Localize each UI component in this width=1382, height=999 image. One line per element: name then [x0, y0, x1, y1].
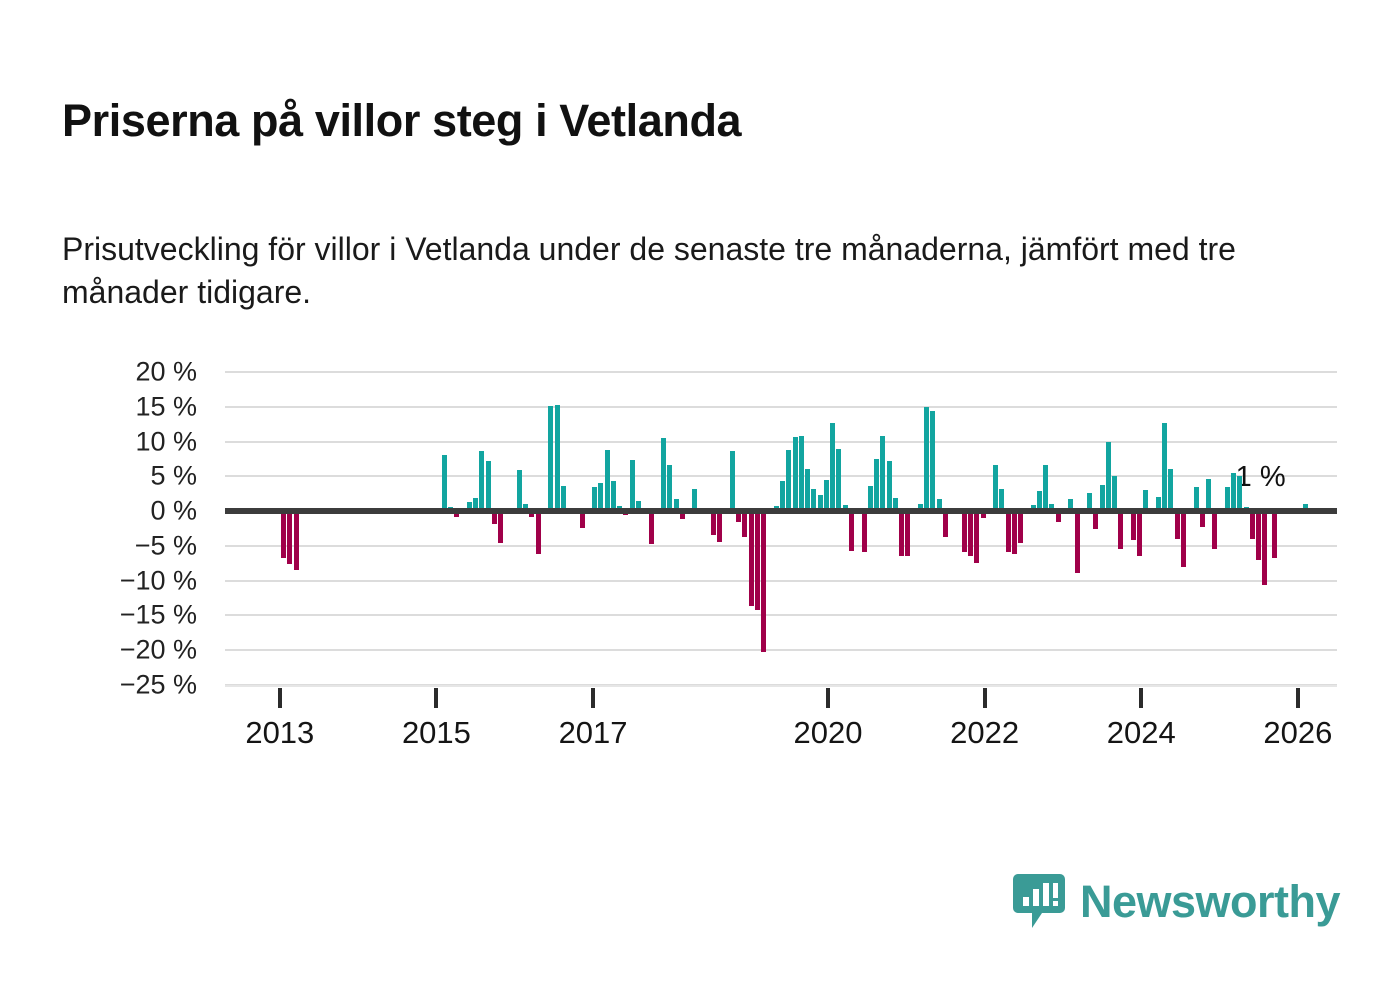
bar	[993, 465, 998, 512]
x-axis-tick-mark	[434, 688, 438, 708]
bar	[1206, 479, 1211, 511]
bar	[1131, 511, 1136, 540]
bar	[661, 438, 666, 511]
bar	[899, 511, 904, 556]
plot-area	[225, 372, 1337, 685]
bar	[1272, 511, 1277, 558]
y-axis-tick-label: −10 %	[47, 565, 197, 596]
bar	[498, 511, 503, 543]
bar	[836, 449, 841, 512]
x-axis-tick-label: 2015	[402, 715, 471, 751]
bar	[874, 459, 879, 511]
bar	[1256, 511, 1261, 560]
x-axis-tick-label: 2013	[245, 715, 314, 751]
bar-series	[225, 372, 1337, 685]
y-axis-tick-label: 0 %	[47, 496, 197, 527]
bar	[1012, 511, 1017, 554]
bar	[630, 460, 635, 511]
page-title: Priserna på villor steg i Vetlanda	[62, 96, 1302, 146]
bar	[1231, 473, 1236, 511]
bar	[611, 481, 616, 512]
bar	[730, 451, 735, 512]
y-axis-tick-label: 10 %	[47, 426, 197, 457]
y-axis-tick-label: 5 %	[47, 461, 197, 492]
bar	[536, 511, 541, 554]
bar	[1018, 511, 1023, 543]
x-axis-tick-label: 2026	[1263, 715, 1332, 751]
bar	[1250, 511, 1255, 539]
bar	[548, 406, 553, 511]
bar	[1212, 511, 1217, 549]
bar	[943, 511, 948, 537]
bar	[649, 511, 654, 544]
bar	[742, 511, 747, 537]
bar	[1075, 511, 1080, 573]
bar	[1162, 423, 1167, 511]
bar	[1175, 511, 1180, 539]
bar	[479, 451, 484, 511]
bar	[605, 450, 610, 511]
bar	[761, 511, 766, 652]
bar	[1168, 469, 1173, 511]
y-axis-tick-label: −20 %	[47, 635, 197, 666]
bar	[962, 511, 967, 552]
x-axis-tick-mark	[983, 688, 987, 708]
bar	[1043, 465, 1048, 511]
y-axis-tick-label: −15 %	[47, 600, 197, 631]
bar	[1237, 476, 1242, 511]
x-axis-tick-label: 2020	[794, 715, 863, 751]
bar	[486, 461, 491, 511]
bar	[905, 511, 910, 556]
x-axis-tick-mark	[826, 688, 830, 708]
bar	[1112, 476, 1117, 511]
bar	[749, 511, 754, 606]
x-axis-tick-mark	[1139, 688, 1143, 708]
bar	[887, 461, 892, 511]
bar	[294, 511, 299, 569]
x-axis-tick-mark	[1296, 688, 1300, 708]
y-axis-tick-label: 15 %	[47, 391, 197, 422]
y-axis-tick-label: 20 %	[47, 357, 197, 388]
bar	[793, 437, 798, 511]
chart-page: Priserna på villor steg i Vetlanda Prisu…	[0, 0, 1382, 999]
x-axis-tick-mark	[278, 688, 282, 708]
bar	[1106, 442, 1111, 512]
y-axis-tick-label: −25 %	[47, 670, 197, 701]
bar	[1137, 511, 1142, 556]
bar	[786, 450, 791, 511]
bar	[805, 469, 810, 511]
bar	[711, 511, 716, 535]
bar	[755, 511, 760, 610]
bar	[442, 455, 447, 511]
bar	[849, 511, 854, 551]
bar	[862, 511, 867, 552]
bar-chart: 20 %15 %10 %5 %0 %−5 %−10 %−15 %−20 %−25…	[62, 355, 1322, 765]
bar	[830, 423, 835, 511]
logo-wordmark: Newsworthy	[1080, 879, 1340, 924]
bar-chart-speech-bubble-icon	[1012, 872, 1066, 930]
bar	[287, 511, 292, 564]
bar	[598, 483, 603, 511]
bar	[1118, 511, 1123, 549]
bar	[717, 511, 722, 542]
bar	[968, 511, 973, 556]
zero-axis-line	[225, 508, 1337, 514]
newsworthy-logo: Newsworthy	[1012, 872, 1340, 930]
x-axis-tick-label: 2024	[1107, 715, 1176, 751]
x-axis-tick-label: 2017	[559, 715, 628, 751]
bar	[555, 405, 560, 511]
bar	[1181, 511, 1186, 567]
bar	[780, 481, 785, 511]
x-axis-line	[225, 685, 1337, 687]
bar	[517, 470, 522, 511]
x-axis-tick-label: 2022	[950, 715, 1019, 751]
bar	[930, 411, 935, 511]
page-subtitle: Prisutveckling för villor i Vetlanda und…	[62, 228, 1262, 314]
x-axis-tick-mark	[591, 688, 595, 708]
bar	[799, 436, 804, 511]
bar	[924, 407, 929, 511]
bar	[1262, 511, 1267, 585]
bar	[281, 511, 286, 558]
bar	[880, 436, 885, 511]
y-axis-tick-label: −5 %	[47, 530, 197, 561]
bar	[974, 511, 979, 563]
bar	[1006, 511, 1011, 552]
bar	[667, 465, 672, 511]
bar	[824, 480, 829, 511]
